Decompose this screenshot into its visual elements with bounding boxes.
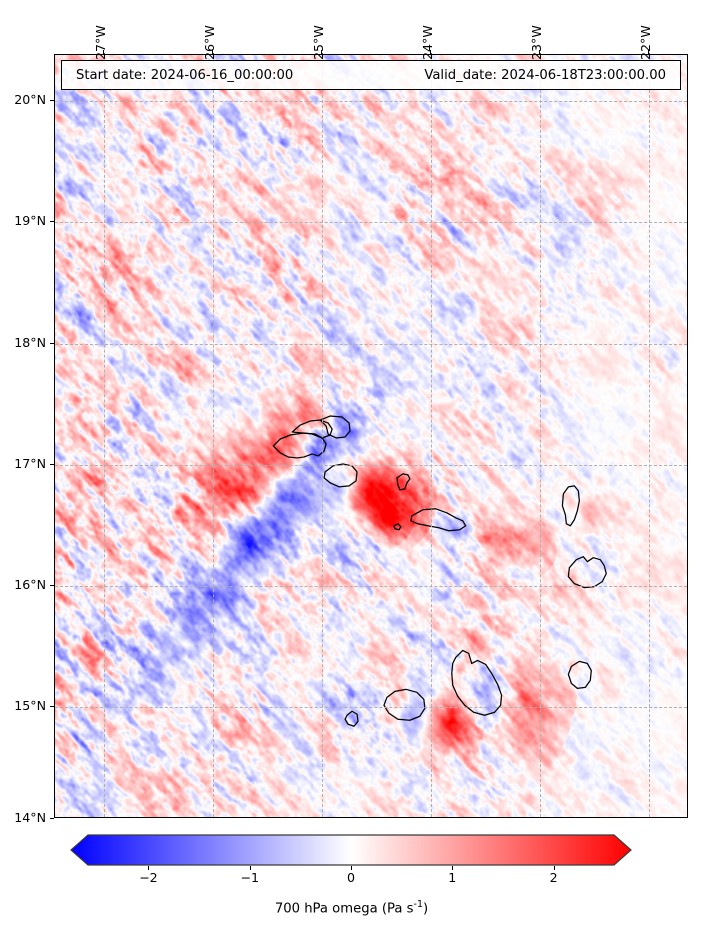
x-tick-label: 24°W <box>420 25 435 60</box>
annotation-box: Start date: 2024-06-16_00:00:00 Valid_da… <box>61 60 681 90</box>
coastline-overlay <box>55 55 687 817</box>
y-tick-mark <box>50 818 54 819</box>
map-axes[interactable]: Start date: 2024-06-16_00:00:00 Valid_da… <box>54 54 688 818</box>
y-tick-label: 18°N <box>0 335 46 350</box>
coastline-island-nw-c <box>320 416 350 438</box>
y-tick-mark <box>50 221 54 222</box>
colorbar-tick-label: 1 <box>448 870 456 885</box>
x-tick-label: 26°W <box>202 25 217 60</box>
coastline-island-small-sliver <box>397 474 410 490</box>
start-date-label: Start date: 2024-06-16_00:00:00 <box>76 68 293 83</box>
valid-date-label: Valid_date: 2024-06-18T23:00:00.00 <box>424 68 666 83</box>
coastline-island-sw-tiny <box>345 711 358 726</box>
x-tick-label: 23°W <box>529 25 544 60</box>
coastline-island-east-elongated <box>411 509 466 531</box>
colorbar-title-exponent: -1 <box>414 899 423 910</box>
colorbar-ticks: −2−1012 <box>70 866 632 890</box>
colorbar[interactable] <box>70 834 632 866</box>
y-tick-mark <box>50 343 54 344</box>
coastline-island-south-small <box>384 689 425 720</box>
colorbar-tick-label: 0 <box>347 870 355 885</box>
colorbar-tick-label: −2 <box>139 870 158 885</box>
colorbar-title-paren: ) <box>423 901 428 916</box>
coastline-island-east-round <box>568 557 606 588</box>
y-tick-mark <box>50 464 54 465</box>
y-tick-label: 17°N <box>0 456 46 471</box>
coastline-island-ne-narrow <box>562 486 579 526</box>
y-tick-mark <box>50 706 54 707</box>
x-tick-label: 22°W <box>638 25 653 60</box>
y-tick-mark <box>50 585 54 586</box>
colorbar-title-main: 700 hPa omega (Pa s <box>275 901 414 916</box>
colorbar-body <box>71 835 631 865</box>
y-tick-mark <box>50 100 54 101</box>
figure-root: Start date: 2024-06-16_00:00:00 Valid_da… <box>0 0 703 936</box>
coastline-island-far-se <box>568 661 591 688</box>
y-tick-label: 19°N <box>0 213 46 228</box>
coastline-island-nw-b <box>292 420 332 438</box>
x-tick-label: 25°W <box>311 25 326 60</box>
y-tick-label: 15°N <box>0 698 46 713</box>
colorbar-tick-label: −1 <box>240 870 259 885</box>
colorbar-tick-label: 2 <box>550 870 558 885</box>
y-tick-label: 14°N <box>0 810 46 825</box>
x-tick-label: 27°W <box>93 25 108 60</box>
coastline-island-se-large <box>452 650 502 715</box>
colorbar-title: 700 hPa omega (Pa s-1) <box>0 899 703 916</box>
y-tick-label: 16°N <box>0 577 46 592</box>
coastline-island-nw-d <box>324 464 357 487</box>
coastline-island-dot <box>394 524 401 530</box>
y-tick-label: 20°N <box>0 92 46 107</box>
